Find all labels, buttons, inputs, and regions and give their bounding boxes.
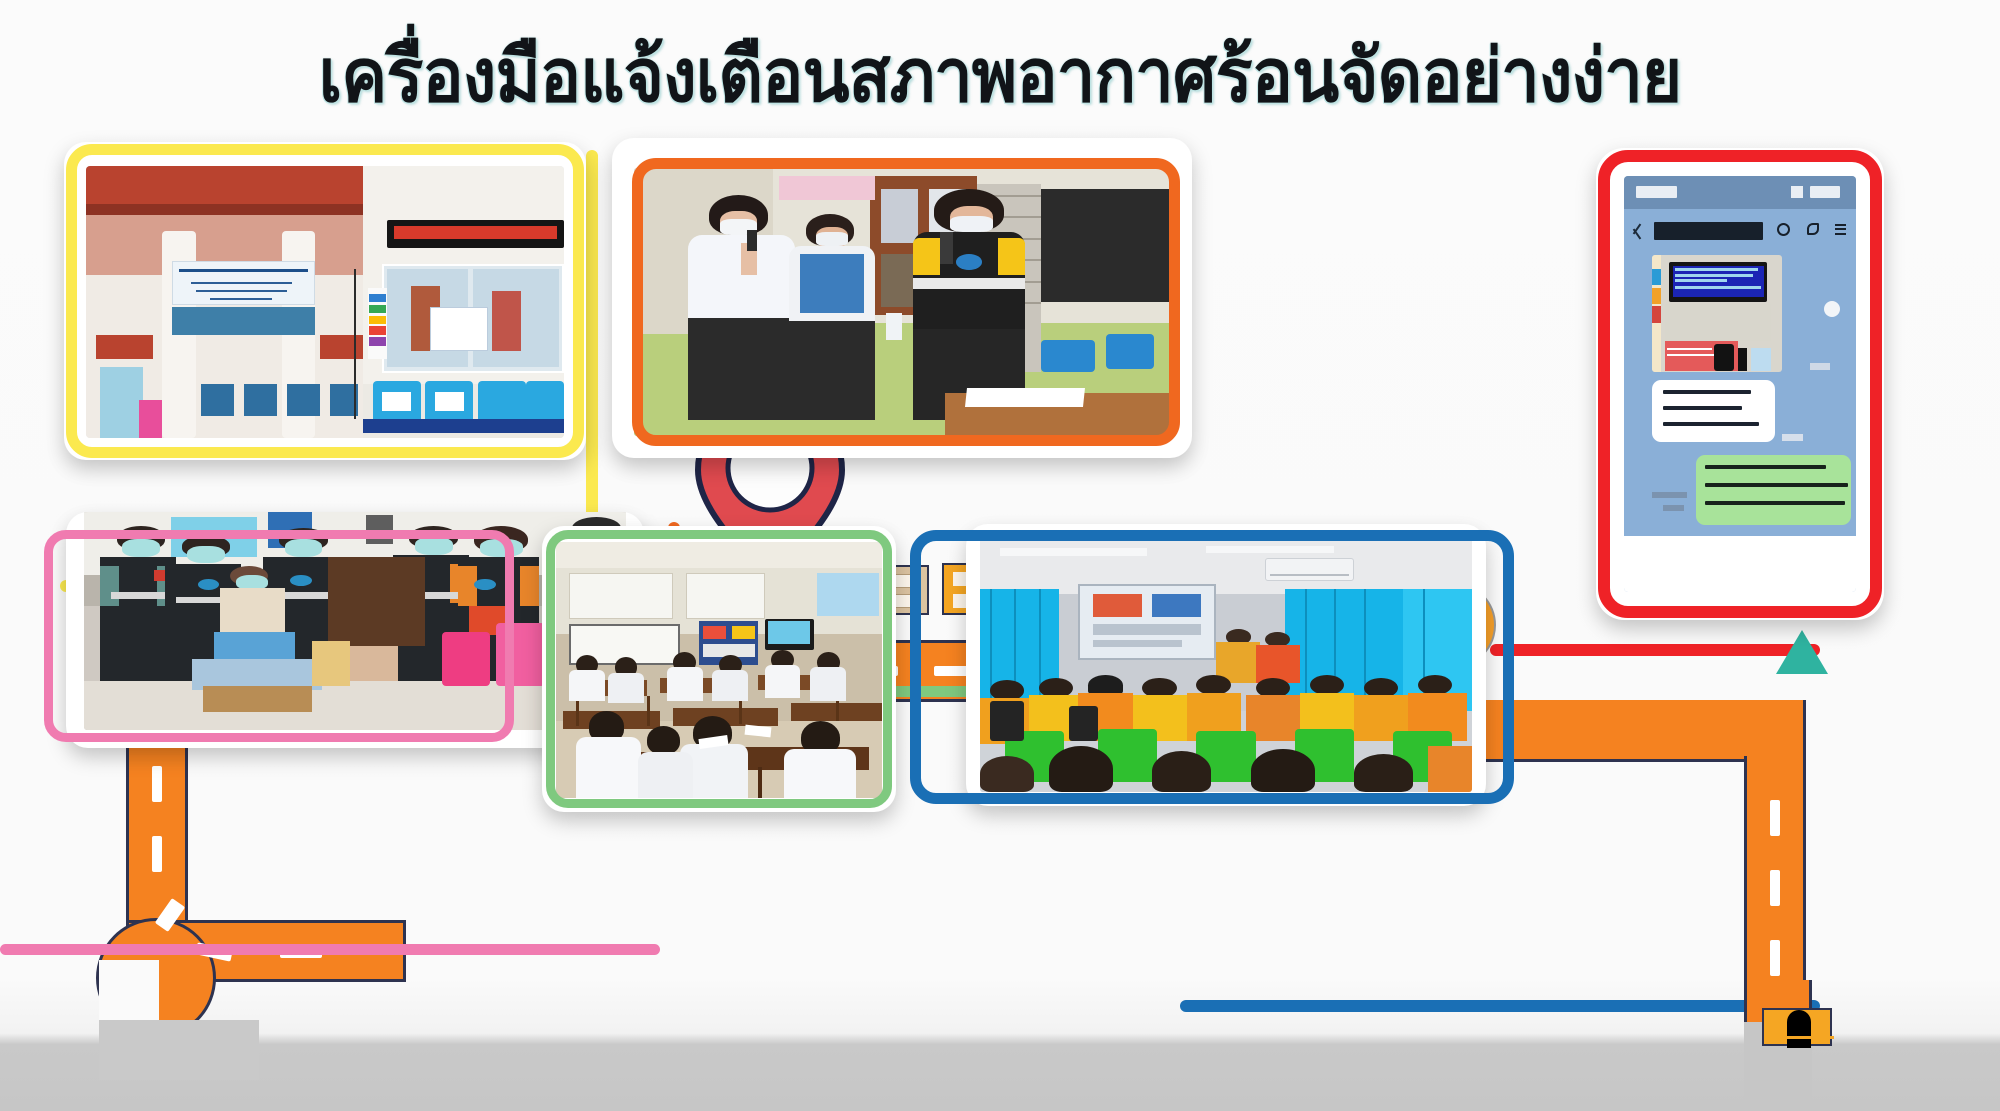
road-dash — [152, 766, 162, 802]
road-dash — [1770, 870, 1780, 906]
message-bubble-left — [1652, 380, 1775, 442]
road-dash — [1770, 940, 1780, 976]
road-corner-mask — [99, 1020, 259, 1080]
chat-title — [1654, 222, 1763, 240]
message-bubble-right — [1696, 455, 1851, 526]
signal-icon — [1791, 186, 1803, 198]
photo-card-clinic-exterior[interactable] — [64, 142, 586, 460]
bubble-line — [1663, 422, 1759, 426]
air-conditioner — [1265, 558, 1354, 581]
photo-card-line-chat-phone[interactable] — [1596, 148, 1884, 620]
bubble-line — [1663, 390, 1752, 394]
menu-icon — [1835, 224, 1846, 226]
bubble-line — [1705, 483, 1848, 487]
photo-card-community-meeting[interactable] — [966, 524, 1486, 806]
road-dash — [152, 836, 162, 872]
phone-screen — [1624, 176, 1856, 592]
message-image-device-photo — [1652, 255, 1782, 371]
menu-icon — [1835, 233, 1846, 235]
menu-icon — [1835, 228, 1846, 230]
bubble-line — [1705, 465, 1826, 469]
message-timestamp — [1810, 363, 1831, 370]
connector-line-blue — [1180, 1000, 1820, 1012]
road-dash — [1770, 800, 1780, 836]
photo-card-classroom-students[interactable] — [542, 526, 896, 812]
photo-clinic-exterior — [86, 166, 564, 438]
triangle-icon-teal — [1776, 630, 1828, 674]
search-icon — [1777, 223, 1790, 236]
photo-classroom-students — [556, 542, 882, 798]
call-icon — [1807, 223, 1819, 235]
photo-student-presentation — [634, 168, 1170, 436]
bubble-line — [1705, 501, 1845, 505]
photo-card-student-presentation[interactable] — [612, 138, 1192, 458]
message-timestamp — [1782, 434, 1803, 441]
share-icon — [1824, 301, 1840, 317]
connector-line-red — [1490, 644, 1820, 656]
connector-line-pink — [0, 944, 660, 955]
hospital-sign-text — [179, 269, 308, 272]
carrier-label — [1636, 186, 1678, 198]
bubble-line — [1663, 406, 1742, 410]
photo-community-meeting — [980, 538, 1472, 792]
poster-canvas: เครื่องมือแจ้งเตือนสภาพอากาศร้อนจัดอย่าง… — [0, 0, 2000, 1111]
building-icon-small-orange — [1762, 1008, 1832, 1046]
battery-icon — [1810, 186, 1840, 198]
message-timestamp — [1663, 505, 1684, 511]
page-title: เครื่องมือแจ้งเตือนสภาพอากาศร้อนจัดอย่าง… — [70, 38, 1930, 116]
read-receipt-label — [1652, 492, 1687, 498]
